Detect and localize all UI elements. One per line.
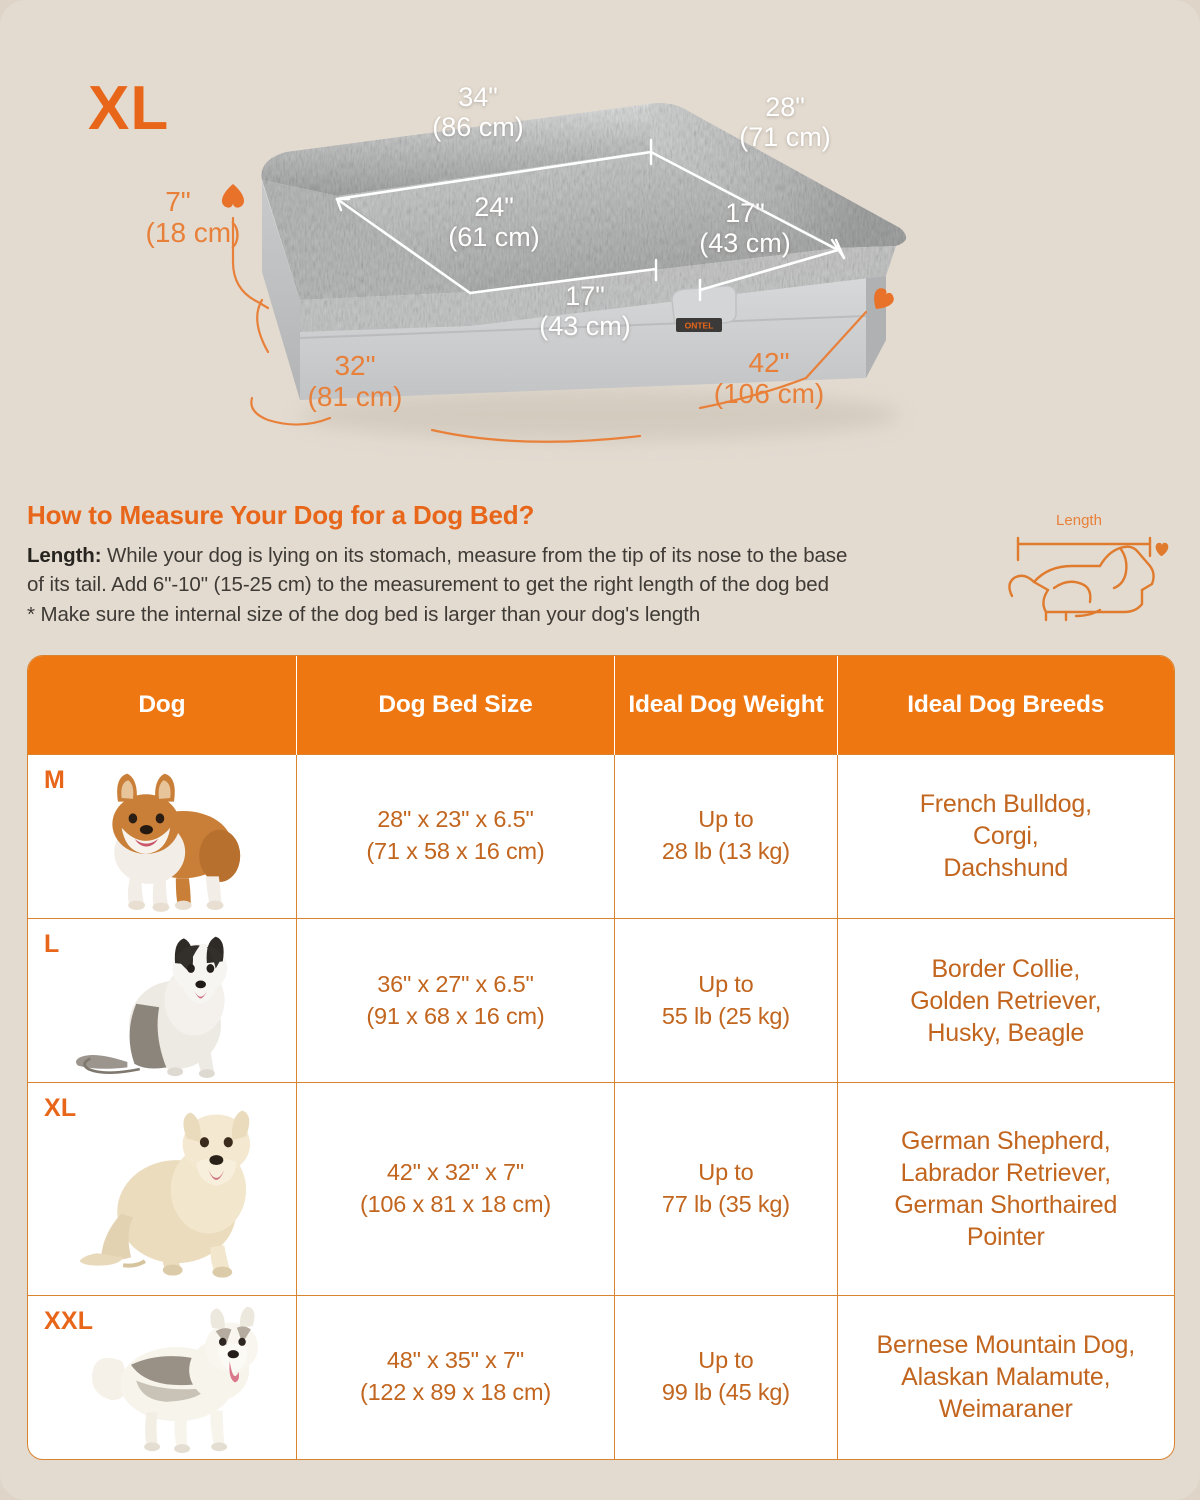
col-header-bed-size: Dog Bed Size	[296, 656, 615, 754]
border-collie-photo	[28, 919, 296, 1082]
col-header-weight: Ideal Dog Weight	[615, 656, 837, 754]
cell-dog-m: M	[28, 754, 296, 918]
cell-dog-xl: XL	[28, 1083, 296, 1296]
measure-line-1: While your dog is lying on its stomach, …	[101, 544, 847, 567]
labrador-photo	[28, 1083, 296, 1295]
cell-breeds-xl: German Shepherd, Labrador Retriever, Ger…	[837, 1083, 1174, 1296]
dog-length-diagram-label: Length	[1004, 512, 1154, 529]
table-body: M	[28, 754, 1174, 1459]
dog-size-table: Dog Dog Bed Size Ideal Dog Weight Ideal …	[27, 655, 1175, 1460]
dog-bed-illustration: ONTEL	[0, 0, 1200, 480]
cell-bed-size-xxl: 48" x 35" x 7" (122 x 89 x 18 cm)	[296, 1295, 615, 1459]
cell-dog-l: L	[28, 918, 296, 1082]
cell-breeds-l: Border Collie, Golden Retriever, Husky, …	[837, 918, 1174, 1082]
malamute-photo	[28, 1296, 296, 1459]
svg-text:ONTEL: ONTEL	[685, 321, 714, 331]
heart-arrow-up-icon	[222, 184, 244, 208]
measure-length-label: Length:	[27, 544, 101, 567]
cell-bed-size-m: 28" x 23" x 6.5" (71 x 58 x 16 cm)	[296, 754, 615, 918]
product-hero: XL	[0, 0, 1200, 480]
cell-weight-xl: Up to 77 lb (35 kg)	[615, 1083, 837, 1296]
infographic-page: XL	[0, 0, 1200, 1500]
cell-weight-xxl: Up to 99 lb (45 kg)	[615, 1295, 837, 1459]
table-row: XXL	[28, 1295, 1174, 1459]
cell-weight-l: Up to 55 lb (25 kg)	[615, 918, 837, 1082]
col-header-dog: Dog	[28, 656, 296, 754]
corgi-photo	[28, 755, 296, 918]
table-row: M	[28, 754, 1174, 918]
dog-outline-icon	[1004, 512, 1176, 634]
table-row: XL	[28, 1083, 1174, 1296]
cell-weight-m: Up to 28 lb (13 kg)	[615, 754, 837, 918]
cell-bed-size-l: 36" x 27" x 6.5" (91 x 68 x 16 cm)	[296, 918, 615, 1082]
cell-dog-xxl: XXL	[28, 1295, 296, 1459]
cell-breeds-m: French Bulldog, Corgi, Dachshund	[837, 754, 1174, 918]
table-row: L	[28, 918, 1174, 1082]
dog-length-diagram: Length	[1004, 512, 1176, 634]
table-header-row: Dog Dog Bed Size Ideal Dog Weight Ideal …	[28, 656, 1174, 754]
measure-line-2: of its tail. Add 6"-10" (15-25 cm) to th…	[27, 573, 829, 596]
heart-icon	[1156, 543, 1169, 556]
cell-breeds-xxl: Bernese Mountain Dog, Alaskan Malamute, …	[837, 1295, 1174, 1459]
cell-bed-size-xl: 42" x 32" x 7" (106 x 81 x 18 cm)	[296, 1083, 615, 1296]
col-header-breeds: Ideal Dog Breeds	[837, 656, 1174, 754]
